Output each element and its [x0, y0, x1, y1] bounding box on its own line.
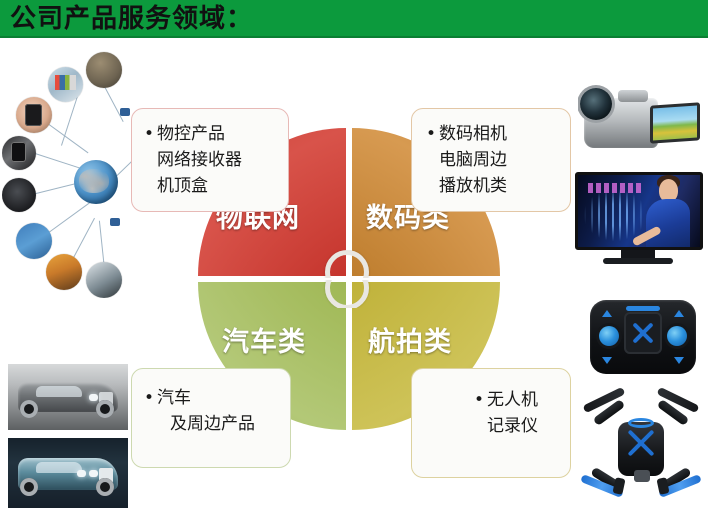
iot-link [99, 221, 105, 265]
drone-camera-icon [634, 470, 650, 482]
flatscreen-tv-photo [573, 172, 705, 268]
globe-icon [74, 160, 118, 204]
iot-node [2, 136, 36, 170]
circular-arrows-icon [322, 250, 378, 306]
callout-line: 播放机类 [426, 173, 570, 199]
header-bar: 公司产品服务领域： [0, 0, 708, 38]
plug-icon [120, 108, 130, 116]
wheel-label-aerial: 航拍类 [368, 320, 452, 359]
car-photo-bottom [8, 438, 128, 508]
camera-lens-icon [580, 88, 612, 120]
callout-line: 记录仪 [474, 413, 570, 439]
callout-line: 汽车 [144, 385, 290, 411]
callout-aerial: 无人机 记录仪 [411, 368, 571, 478]
iot-node [46, 254, 82, 290]
car-photo-top [8, 364, 128, 430]
iot-node [2, 178, 36, 212]
iot-node [86, 262, 122, 298]
joystick-right [667, 326, 687, 346]
slide-canvas: 公司产品服务领域： [0, 0, 708, 519]
luxury-cars-photo [4, 362, 132, 514]
callout-line: 机顶盒 [144, 173, 288, 199]
callout-digital: 数码相机 电脑周边 播放机类 [411, 108, 571, 212]
callout-line: 及周边产品 [144, 411, 290, 437]
quadcopter-drone-photo [580, 388, 702, 506]
iot-node [48, 67, 83, 102]
callout-auto: 汽车 及周边产品 [131, 368, 291, 468]
callout-iot: 物控产品 网络接收器 机顶盒 [131, 108, 289, 212]
joystick-left [599, 326, 619, 346]
iot-node [86, 52, 122, 88]
iot-link [72, 218, 95, 261]
callout-line: 数码相机 [426, 121, 570, 147]
iot-network-diagram-photo [2, 48, 148, 298]
plug-icon [110, 218, 120, 226]
page-title: 公司产品服务领域： [10, 3, 253, 35]
iot-node [16, 97, 52, 133]
callout-line: 网络接收器 [144, 147, 288, 173]
callout-line: 物控产品 [144, 121, 288, 147]
drone-remote-controller-photo [590, 300, 696, 374]
callout-line: 无人机 [474, 387, 570, 413]
camcorder-photo [578, 80, 704, 168]
callout-line: 电脑周边 [426, 147, 570, 173]
iot-link [46, 201, 92, 235]
wheel-label-auto: 汽车类 [222, 320, 306, 359]
iot-node [16, 223, 52, 259]
